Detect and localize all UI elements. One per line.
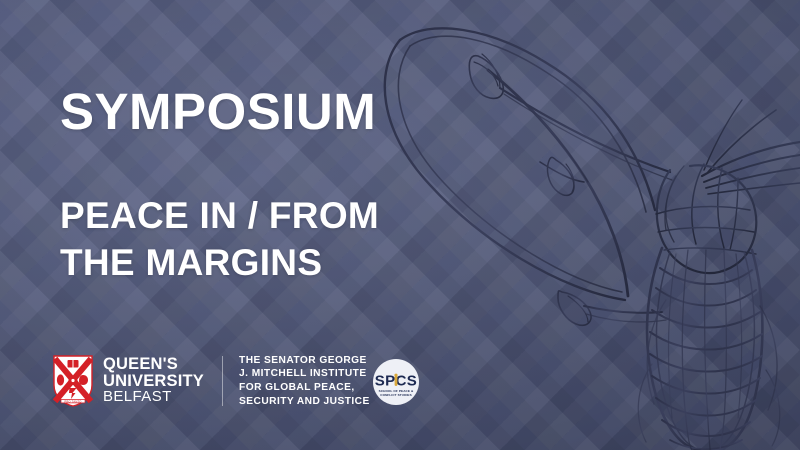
- page-title: SYMPOSIUM: [60, 86, 376, 137]
- queens-university-logo: PRO TANTO QUEEN'S UNIVERSITY BELFAST: [52, 354, 204, 408]
- queens-university-crest-icon: PRO TANTO: [52, 354, 94, 408]
- mitchell-line-1: THE SENATOR GEORGE: [239, 354, 370, 368]
- wire-sculpture-artwork: [370, 0, 800, 450]
- qub-line-3: BELFAST: [103, 389, 204, 406]
- mitchell-line-2: J. MITCHELL INSTITUTE: [239, 367, 370, 381]
- logo-divider: [222, 356, 223, 406]
- logo-bar: PRO TANTO QUEEN'S UNIVERSITY BELFAST THE…: [52, 352, 370, 410]
- spcs-logo: SPCS SCHOOL OF PEACE & CONFLICT STUDIES: [372, 358, 420, 406]
- queens-university-wordmark: QUEEN'S UNIVERSITY BELFAST: [103, 356, 204, 406]
- svg-text:CONFLICT STUDIES: CONFLICT STUDIES: [380, 393, 412, 397]
- subtitle-line-2: THE MARGINS: [60, 239, 379, 286]
- mitchell-institute-logo: THE SENATOR GEORGE J. MITCHELL INSTITUTE…: [239, 354, 370, 408]
- svg-text:PRO TANTO: PRO TANTO: [64, 400, 81, 404]
- subtitle-line-1: PEACE IN / FROM: [60, 192, 379, 239]
- qub-line-1: QUEEN'S: [103, 356, 204, 373]
- subtitle: PEACE IN / FROM THE MARGINS: [60, 192, 379, 286]
- mitchell-line-3: FOR GLOBAL PEACE,: [239, 381, 370, 395]
- mitchell-line-4: SECURITY AND JUSTICE: [239, 395, 370, 409]
- qub-line-2: UNIVERSITY: [103, 373, 204, 390]
- symposium-slide: SYMPOSIUM PEACE IN / FROM THE MARGINS: [0, 0, 800, 450]
